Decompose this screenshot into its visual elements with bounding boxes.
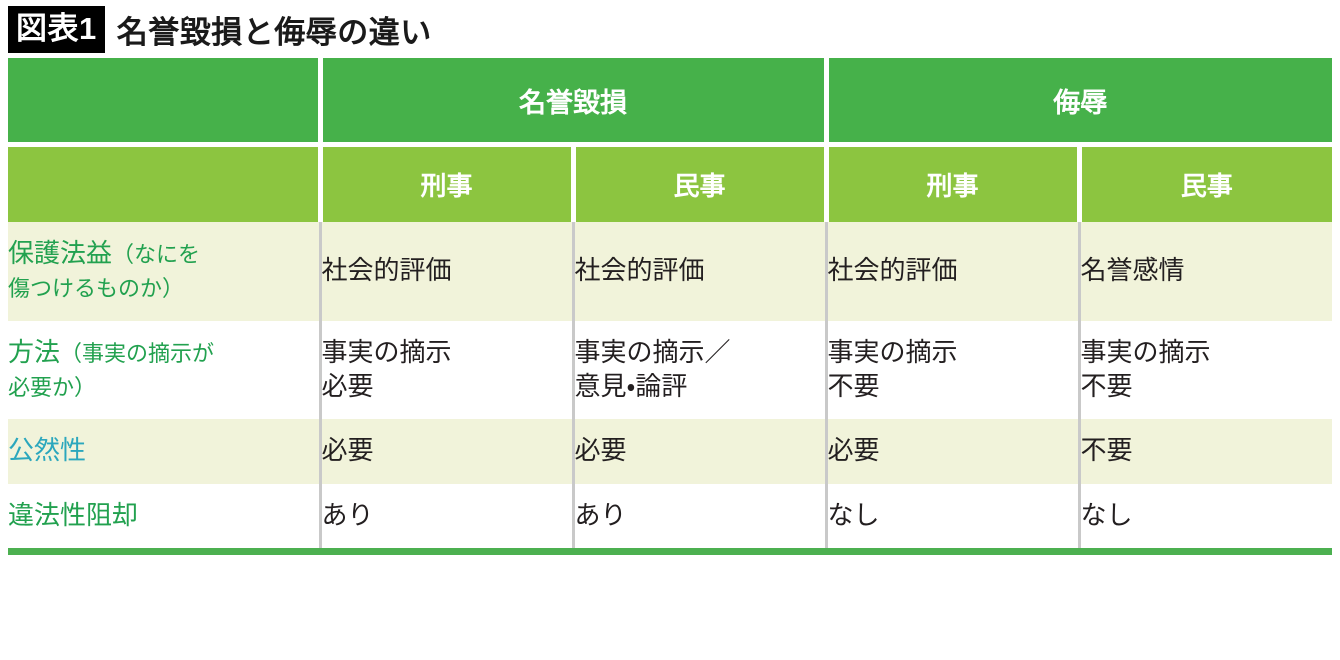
cell-line1: 事実の摘示 [1081,337,1211,367]
group-header-bujoku: 侮辱 [826,58,1332,145]
row-label-main: 違法性阻却 [8,500,138,530]
cell-value: あり [573,484,826,552]
header-corner-cell [8,58,320,145]
cell-value: 事実の摘示 必要 [320,321,573,420]
row-label-main: 保護法益 [8,238,112,268]
cell-value: 社会的評価 [573,222,826,321]
cell-line1: なし [1081,500,1133,530]
cell-value: 必要 [573,419,826,483]
table-header-sub-row: 刑事 民事 刑事 民事 [8,145,1332,223]
cell-line2: 不要 [828,369,1078,403]
cell-line1: 事実の摘示 [322,337,452,367]
row-label-main: 公然性 [8,435,86,465]
subheader-keiji-2: 刑事 [826,145,1079,223]
cell-line1: 社会的評価 [322,255,452,285]
row-label-hogohoeki: 保護法益（なにを 傷つけるものか） [8,222,320,321]
table-row: 公然性 必要 必要 必要 不要 [8,419,1332,483]
table-row: 方法（事実の摘示が 必要か） 事実の摘示 必要 事実の摘示／ 意見・論評 事実の… [8,321,1332,420]
cell-value: あり [320,484,573,552]
row-label-line2: 必要か） [8,375,96,400]
page-title: 名誉毀損と侮辱の違い [117,7,432,52]
subheader-minji-2: 民事 [1079,145,1332,223]
cell-value: 事実の摘示 不要 [826,321,1079,420]
cell-value: 社会的評価 [826,222,1079,321]
cell-line1: 社会的評価 [575,255,705,285]
cell-line2: 必要 [322,369,572,403]
figure-number-badge: 図表1 [8,6,105,53]
comparison-table: 名誉毀損 侮辱 刑事 民事 刑事 民事 保護法益（なにを 傷つけるものか） [8,58,1332,555]
cell-line1: 必要 [575,435,627,465]
cell-line2: 意見・論評 [575,369,825,403]
cell-line1: 必要 [828,435,880,465]
cell-line1: 必要 [322,435,374,465]
cell-line1: 不要 [1081,435,1133,465]
table-row: 保護法益（なにを 傷つけるものか） 社会的評価 社会的評価 社会的評価 [8,222,1332,321]
figure-title-row: 図表1 名誉毀損と侮辱の違い [0,0,1340,58]
figure-container: 図表1 名誉毀損と侮辱の違い 名誉毀損 侮辱 刑事 民事 刑事 民事 [0,0,1340,660]
subheader-minji-1: 民事 [573,145,826,223]
cell-value: 名誉感情 [1079,222,1332,321]
cell-line2: 不要 [1081,369,1333,403]
cell-line1: 社会的評価 [828,255,958,285]
cell-line1: 事実の摘示／ [575,337,731,367]
row-label-line2: 傷つけるものか） [8,276,184,301]
row-label-ihosei-sokyaku: 違法性阻却 [8,484,320,552]
row-label-main: 方法 [8,337,60,367]
cell-value: 必要 [826,419,1079,483]
cell-line1: なし [828,500,880,530]
subheader-keiji-1: 刑事 [320,145,573,223]
table-header-group-row: 名誉毀損 侮辱 [8,58,1332,145]
row-label-sub: （なにを [112,242,200,267]
cell-value: 不要 [1079,419,1332,483]
table-row: 違法性阻却 あり あり なし なし [8,484,1332,552]
group-header-meiyokison: 名誉毀損 [320,58,826,145]
row-label-hoho: 方法（事実の摘示が 必要か） [8,321,320,420]
cell-line1: 名誉感情 [1081,255,1185,285]
cell-line1: あり [575,500,627,530]
cell-value: なし [1079,484,1332,552]
cell-value: 事実の摘示／ 意見・論評 [573,321,826,420]
row-label-kozensei: 公然性 [8,419,320,483]
cell-value: 社会的評価 [320,222,573,321]
cell-line1: 事実の摘示 [828,337,958,367]
cell-value: 事実の摘示 不要 [1079,321,1332,420]
cell-value: 必要 [320,419,573,483]
subheader-corner-cell [8,145,320,223]
cell-line1: あり [322,500,374,530]
cell-value: なし [826,484,1079,552]
row-label-sub: （事実の摘示が [60,341,214,366]
